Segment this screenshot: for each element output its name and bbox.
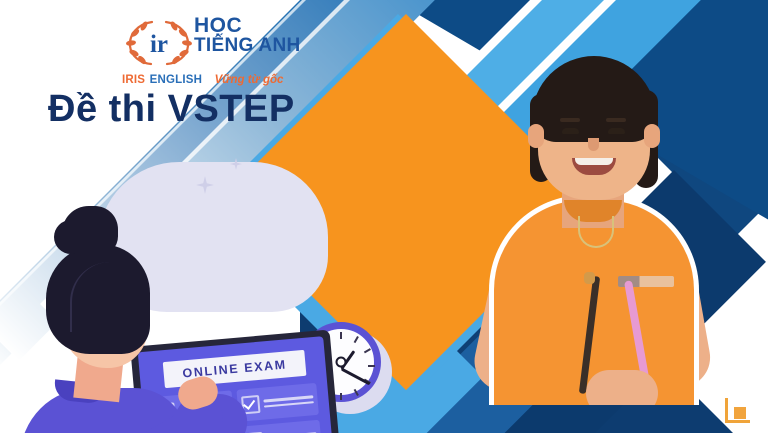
iris-english-logo[interactable]: ir HỌC TIẾNG ANH IRIS ENGLISH Vững từ gố… bbox=[122, 12, 272, 80]
photo-eyebrow-left bbox=[560, 118, 580, 122]
question-item[interactable] bbox=[240, 420, 322, 433]
page-title: Đề thi VSTEP bbox=[48, 88, 295, 131]
photo-pen-tip bbox=[584, 272, 595, 284]
photo-ear-left bbox=[528, 124, 544, 148]
photo-hair-top bbox=[532, 56, 656, 142]
sparkle-icon-small bbox=[230, 158, 242, 170]
photo-diamond-frame bbox=[398, 14, 768, 410]
logo-line-tienganh: TIẾNG ANH bbox=[194, 36, 301, 56]
logo-monogram-text: ir bbox=[150, 31, 168, 58]
logo-brand-iris: IRIS bbox=[122, 74, 145, 86]
photo-eye-right bbox=[608, 128, 625, 134]
logo-wordmark: HỌC TIẾNG ANH bbox=[194, 16, 301, 56]
exam-illustration: ONLINE EXAM bbox=[18, 150, 388, 433]
photo-eyebrow-right bbox=[606, 118, 626, 122]
photo-teeth bbox=[575, 158, 613, 165]
laurel-wreath-icon: ir bbox=[122, 16, 196, 68]
clock-tick bbox=[340, 393, 342, 400]
question-lines bbox=[263, 395, 314, 407]
sparkle-icon-large bbox=[196, 176, 214, 194]
clock-tick bbox=[368, 365, 375, 367]
photo-nose bbox=[588, 138, 599, 151]
banner-canvas: ir HỌC TIẾNG ANH IRIS ENGLISH Vững từ gố… bbox=[0, 0, 768, 433]
photo-ear-right bbox=[644, 124, 660, 148]
clock-tick bbox=[354, 336, 359, 343]
student-hair-bun bbox=[62, 206, 118, 256]
logo-subtitle: IRIS ENGLISH Vững từ gốc bbox=[122, 70, 282, 88]
logo-slogan: Vững từ gốc bbox=[215, 74, 284, 86]
logo-brand-english: ENGLISH bbox=[150, 74, 203, 86]
clock-tick bbox=[354, 389, 359, 396]
clock-minute-hand bbox=[340, 368, 370, 386]
photo-hands bbox=[586, 370, 658, 405]
clock-tick bbox=[364, 348, 371, 353]
question-item[interactable] bbox=[236, 383, 318, 422]
logo-line-hoc: HỌC bbox=[194, 16, 301, 36]
clock-tick bbox=[340, 332, 342, 339]
photo-eye-left bbox=[562, 128, 579, 134]
teacher-photo bbox=[468, 50, 720, 405]
clock-center-pin bbox=[336, 357, 347, 368]
